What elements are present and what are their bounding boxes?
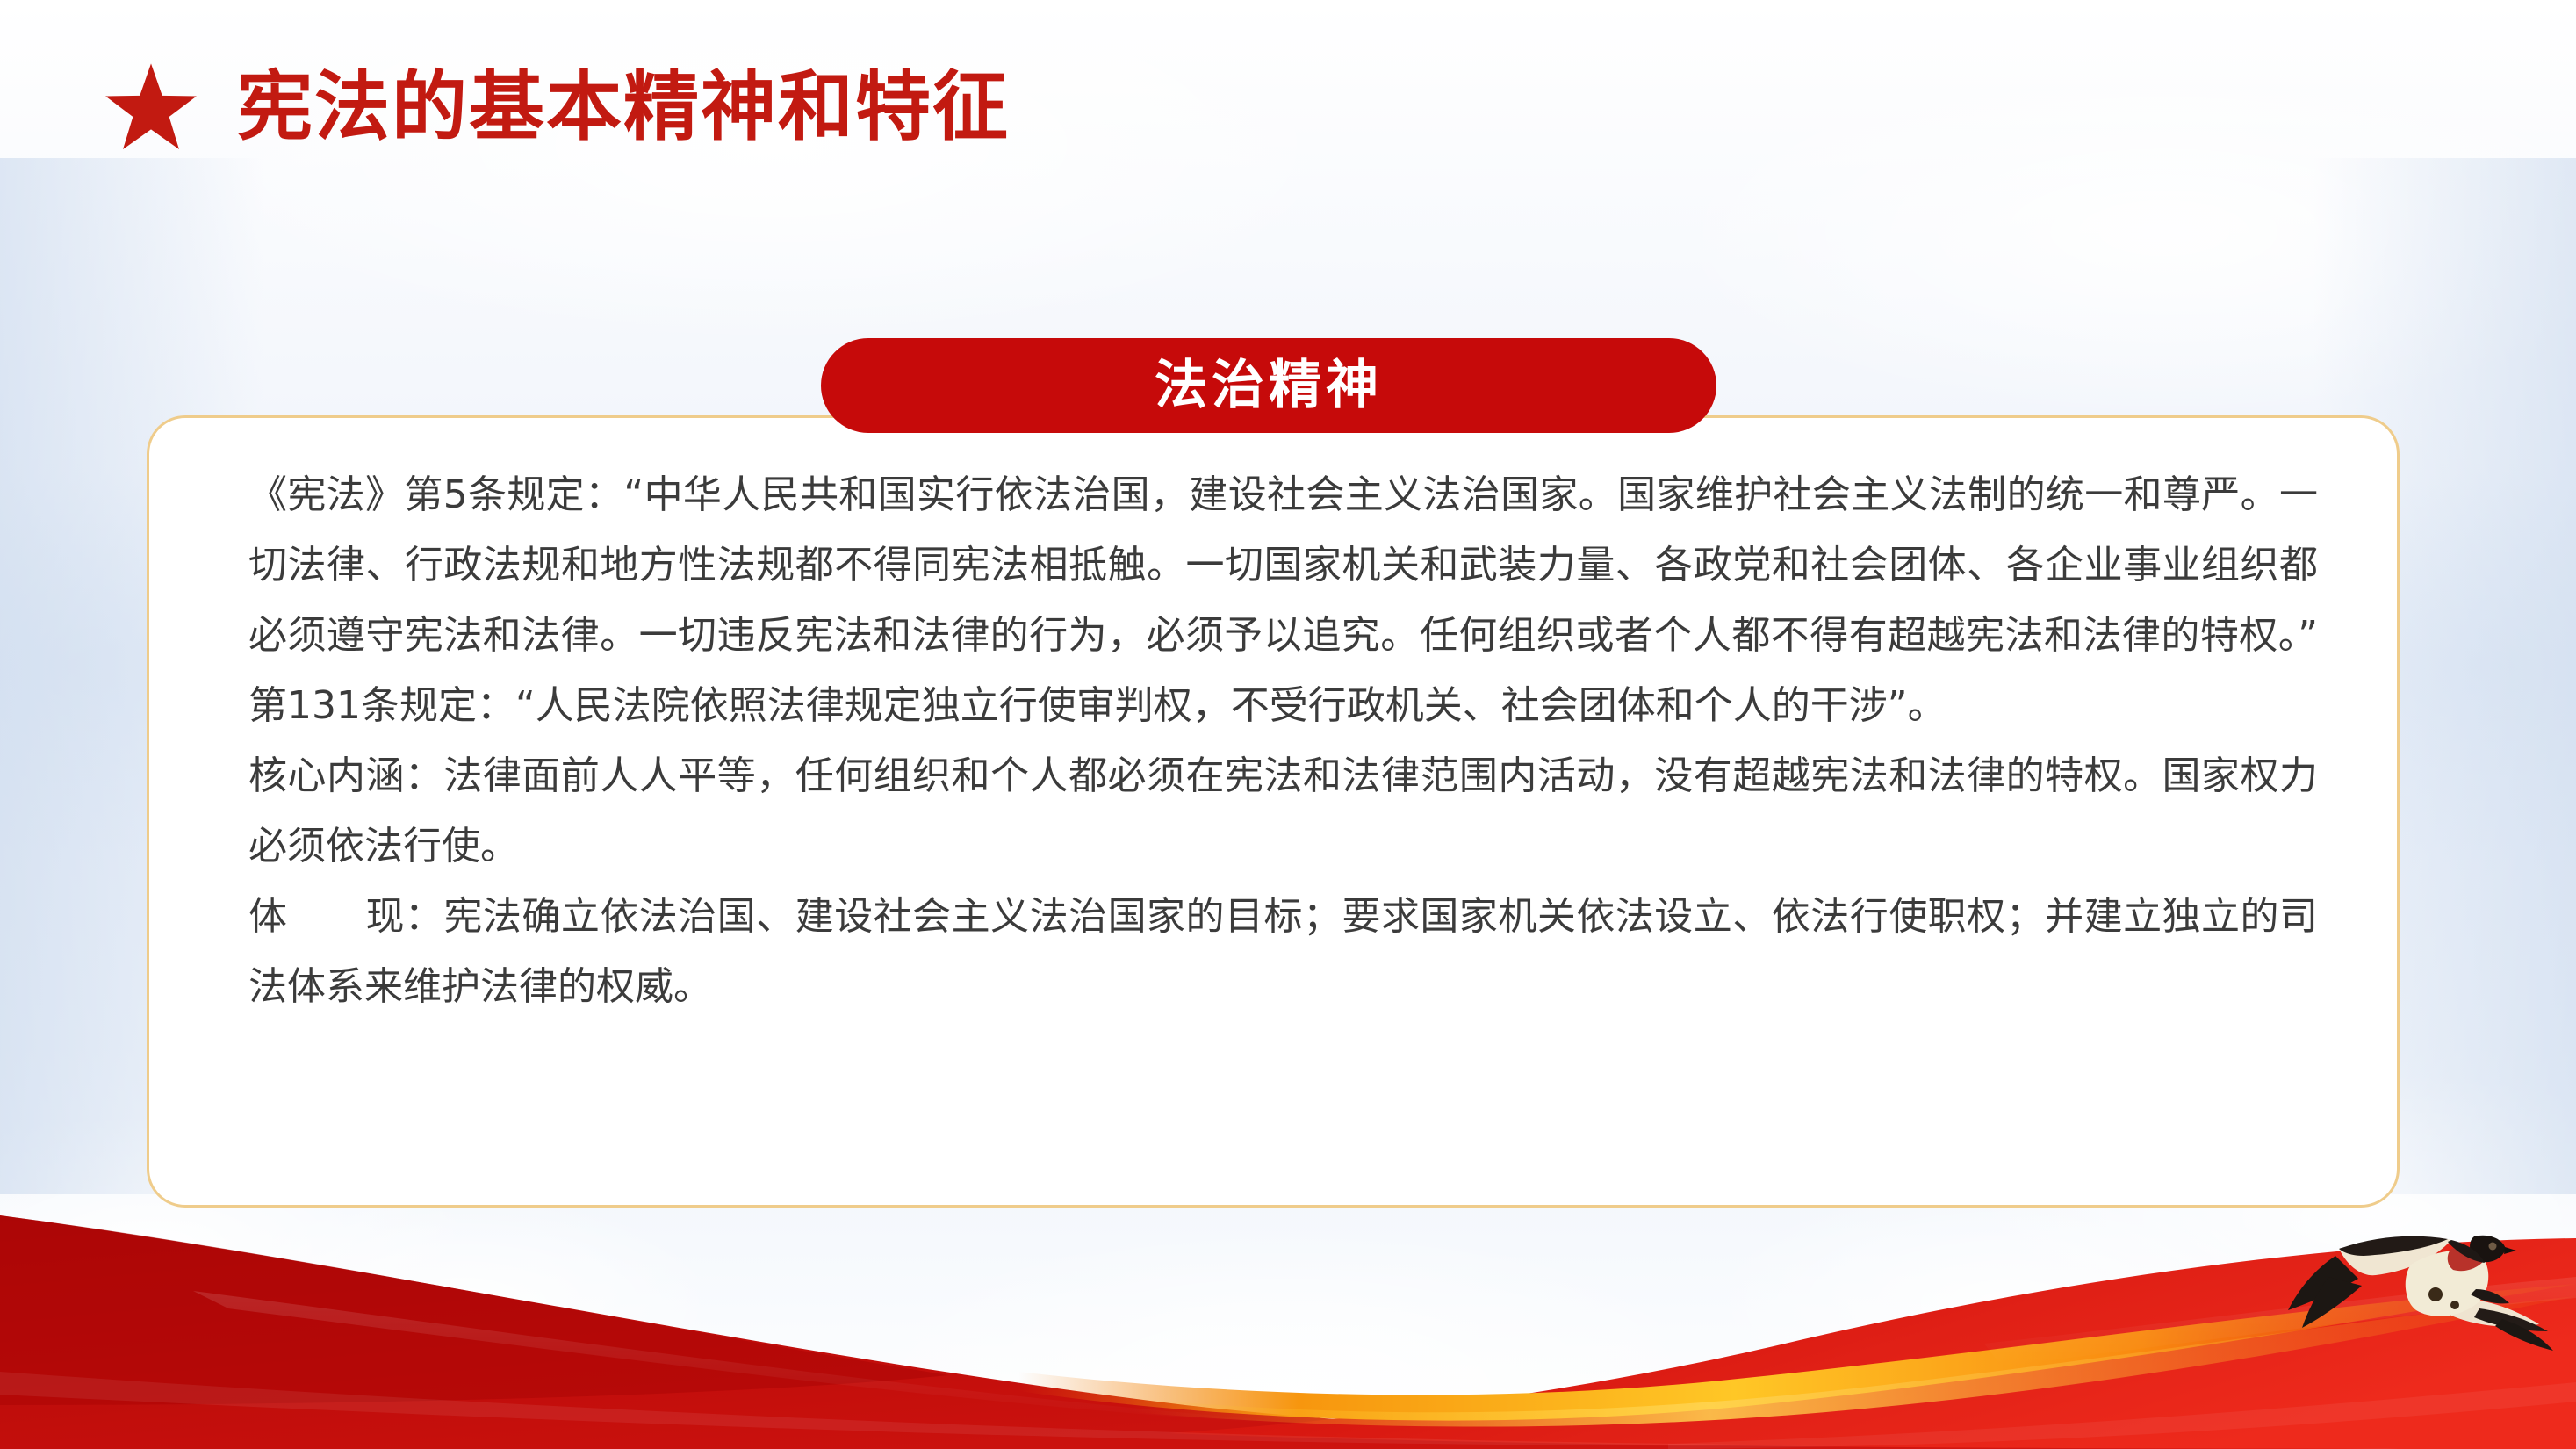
page-title: 宪法的基本精神和特征 [237, 69, 1010, 145]
section-badge: 法治精神 [821, 338, 1716, 433]
section-badge-label: 法治精神 [1155, 359, 1383, 412]
content-card-body: 《宪法》第5条规定：“中华人民共和国实行依法治国，建设社会主义法治国家。国家维护… [248, 460, 2318, 1022]
red-ribbon-wave [0, 1186, 2576, 1449]
slide-root: 宪法的基本精神和特征 法治精神 《宪法》第5条规定：“中华人民共和国实行依法治国… [0, 0, 2576, 1449]
paragraph-constitution-article: 《宪法》第5条规定：“中华人民共和国实行依法治国，建设社会主义法治国家。国家维护… [248, 460, 2318, 741]
content-card: 《宪法》第5条规定：“中华人民共和国实行依法治国，建设社会主义法治国家。国家维护… [147, 415, 2400, 1207]
red-star-icon [104, 61, 198, 153]
swallow-bird-icon [2279, 1214, 2560, 1381]
title-row: 宪法的基本精神和特征 [104, 54, 1010, 160]
paragraph-embodiment: 体 现：宪法确立依法治国、建设社会主义法治国家的目标；要求国家机关依法设立、依法… [248, 882, 2318, 1022]
paragraph-core-meaning: 核心内涵：法律面前人人平等，任何组织和个人都必须在宪法和法律范围内活动，没有超越… [248, 741, 2318, 882]
